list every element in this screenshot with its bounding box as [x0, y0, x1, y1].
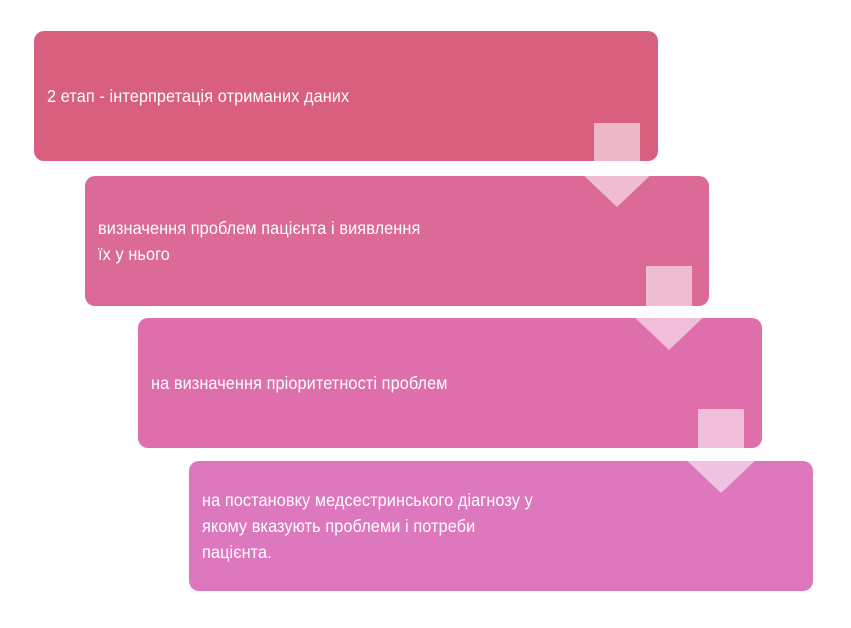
process-step-4-label: на постановку медсестринського діагнозу …: [189, 487, 533, 565]
process-step-3[interactable]: на визначення пріоритетності проблем: [138, 318, 762, 448]
process-step-4[interactable]: на постановку медсестринського діагнозу …: [189, 461, 813, 591]
process-step-1[interactable]: 2 етап - інтерпретація отриманих даних: [34, 31, 658, 161]
process-diagram: 2 етап - інтерпретація отриманих даних в…: [0, 0, 851, 628]
process-step-1-label: 2 етап - інтерпретація отриманих даних: [34, 83, 349, 109]
process-step-3-label: на визначення пріоритетності проблем: [138, 370, 448, 396]
process-step-2-label: визначення проблем пацієнта і виявлення …: [85, 215, 420, 267]
process-step-2[interactable]: визначення проблем пацієнта і виявлення …: [85, 176, 709, 306]
